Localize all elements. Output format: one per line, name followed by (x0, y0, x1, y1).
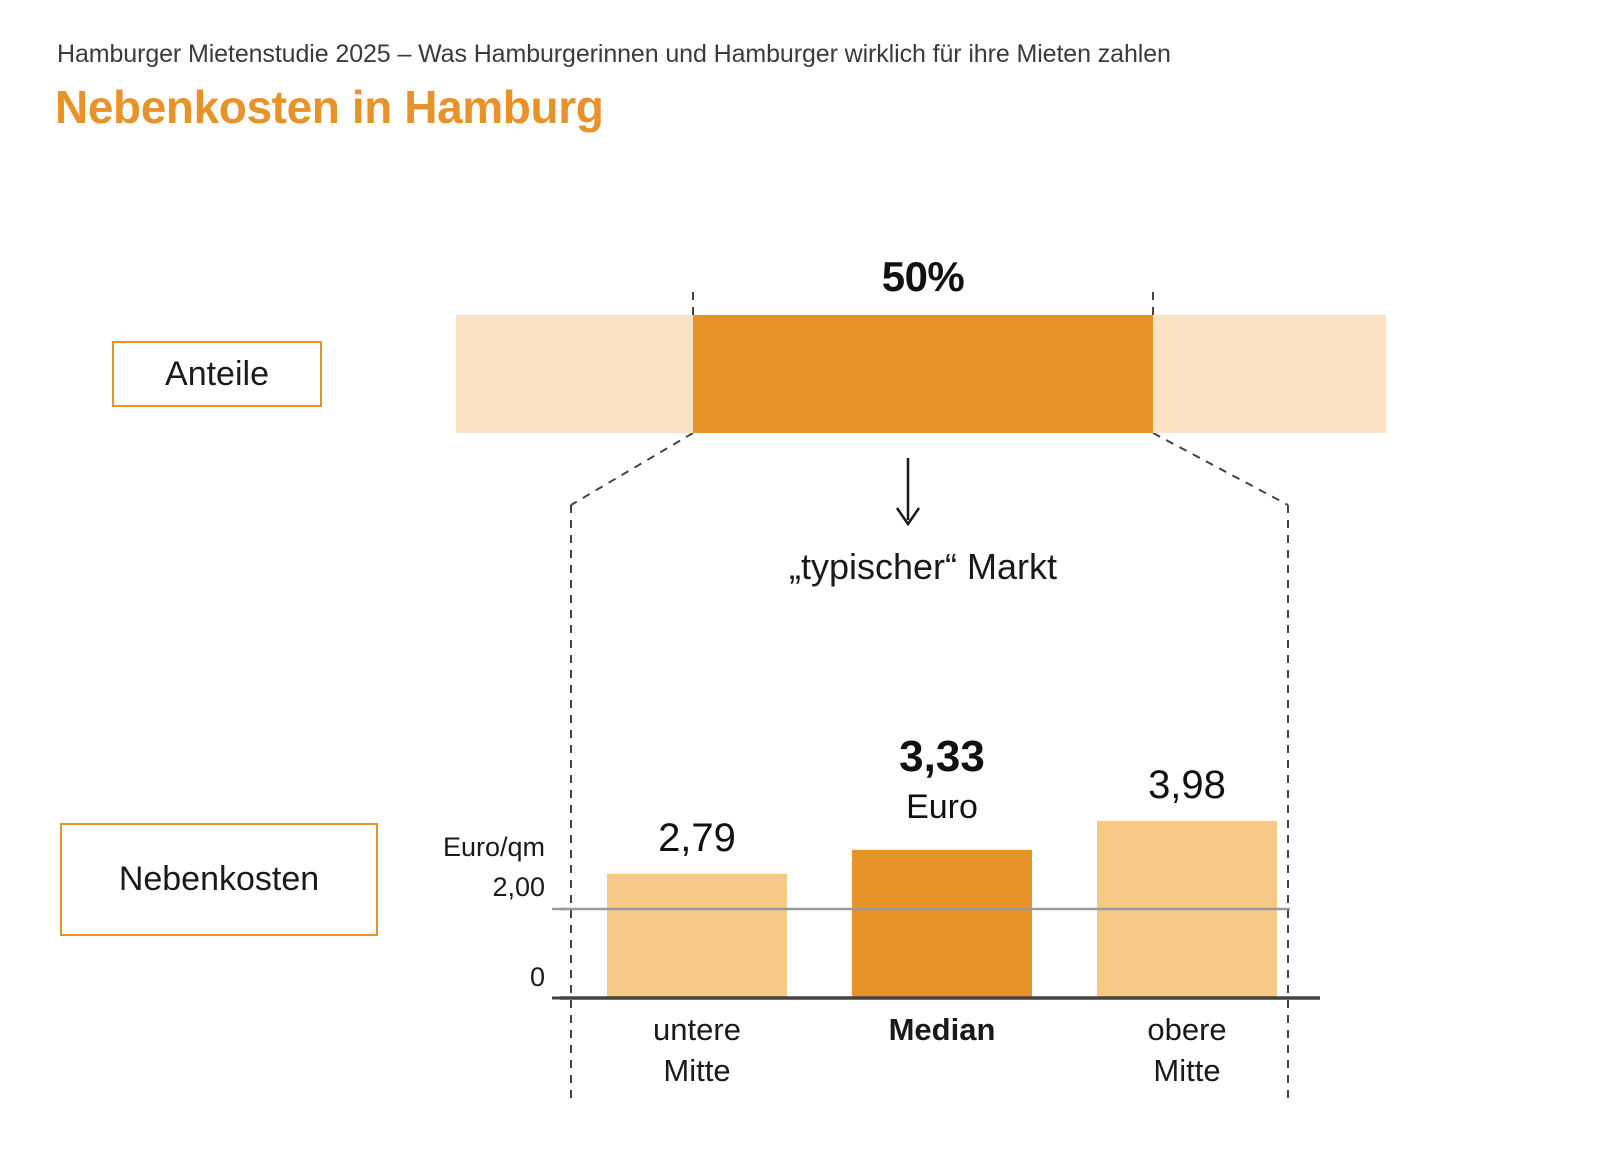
bar-chart: Euro/qm 2,00 0 2,79 3,33 Euro 3,98 unter… (0, 0, 1600, 1163)
category-label-1-line1: Median (802, 1010, 1082, 1051)
category-label-0: untere Mitte (557, 1010, 837, 1092)
category-label-2: obere Mitte (1047, 1010, 1327, 1092)
category-label-0-line1: untere (557, 1010, 837, 1051)
bar-1 (852, 850, 1032, 998)
category-label-0-line2: Mitte (557, 1051, 837, 1092)
infographic-slide: Hamburger Mietenstudie 2025 – Was Hambur… (0, 0, 1600, 1163)
bar-value-0: 2,79 (567, 816, 827, 861)
bar-value-2: 3,98 (1057, 763, 1317, 808)
bar-value-1: 3,33 (812, 732, 1072, 782)
category-label-2-line2: Mitte (1047, 1051, 1327, 1092)
category-label-2-line1: obere (1047, 1010, 1327, 1051)
chart-canvas (0, 0, 1600, 1163)
category-label-1: Median (802, 1010, 1082, 1051)
bar-0 (607, 874, 787, 998)
bar-unit-label: Euro (812, 788, 1072, 827)
